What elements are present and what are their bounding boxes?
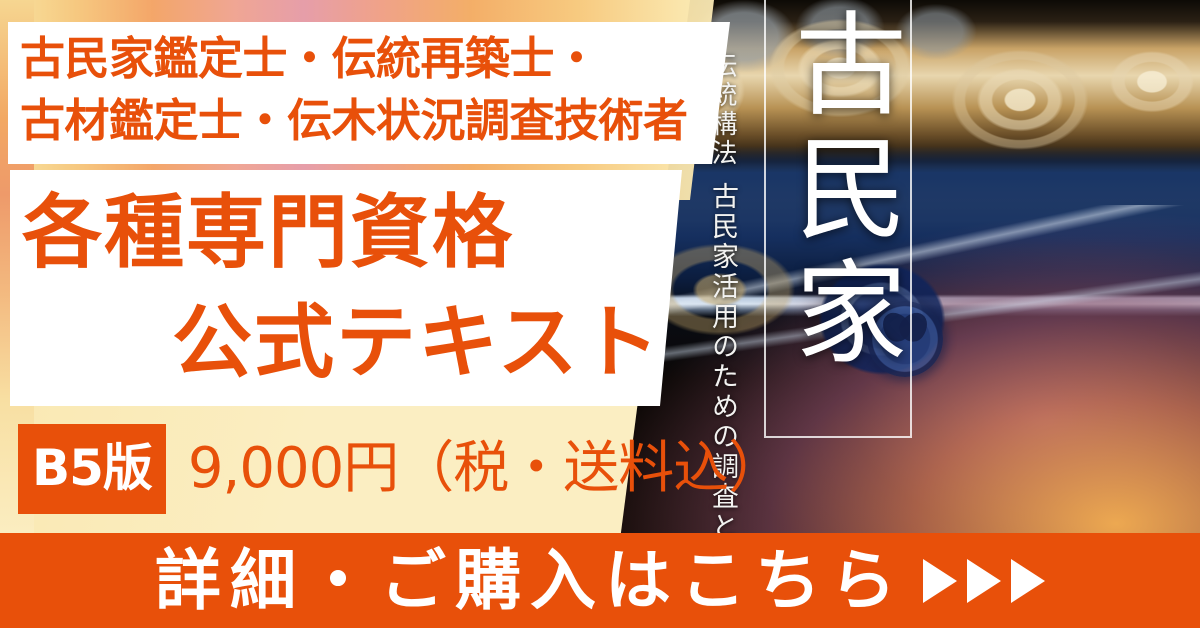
play-arrow-icon: [923, 559, 957, 603]
cta-bar[interactable]: 詳細・ご購入はこちら: [0, 533, 1200, 628]
play-arrow-icon: [967, 559, 1001, 603]
price-amount: 9,000円（税・送料込）: [188, 441, 783, 497]
main-title-line-2: 公式テキスト: [22, 288, 702, 398]
price-row: B5版 9,000円（税・送料込）: [18, 424, 783, 514]
cta-arrows: [923, 559, 1045, 603]
cta-label: 詳細・ご購入はこちら: [155, 548, 905, 614]
main-title: 各種専門資格 公式テキスト: [22, 178, 702, 399]
format-badge: B5版: [18, 424, 166, 514]
promo-banner: 古民家 伝統構法 古民家活用のための調査と再生の 古民家鑑定士・伝統再築士・ 古…: [0, 0, 1200, 628]
qualifications-heading: 古民家鑑定士・伝統再築士・ 古材鑑定士・伝木状況調査技術者: [20, 28, 720, 152]
qualifications-line-1: 古民家鑑定士・伝統再築士・: [20, 28, 720, 90]
play-arrow-icon: [1011, 559, 1045, 603]
cover-vertical-title: 古民家: [778, 6, 906, 378]
qualifications-line-2: 古材鑑定士・伝木状況調査技術者: [20, 90, 720, 152]
main-title-line-1: 各種専門資格: [22, 178, 702, 288]
